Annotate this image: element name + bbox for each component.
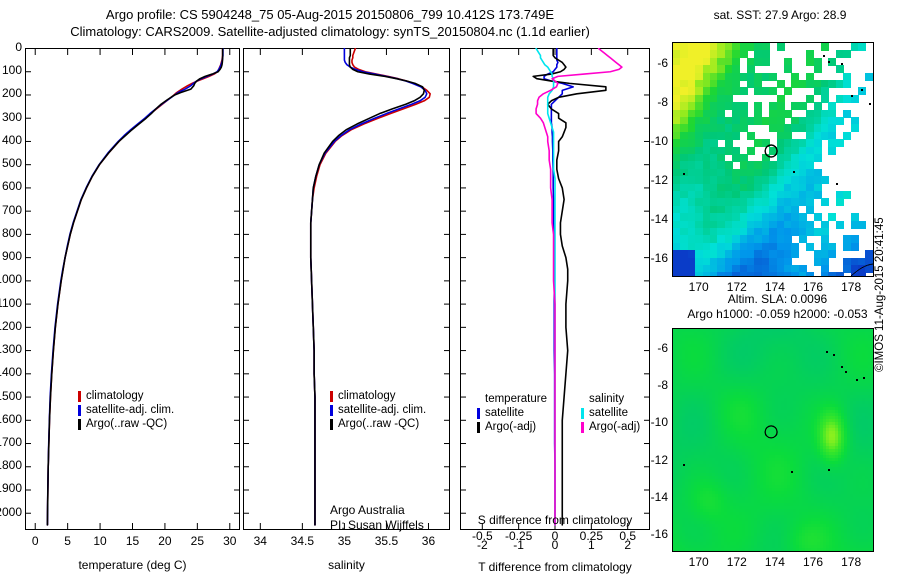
tick-label: -12 (651, 453, 668, 467)
tick-label: -16 (651, 527, 668, 541)
tick-label: -8 (657, 378, 668, 392)
copyright-notice: ©IMOS 11-Aug-2015 20:41:45 (874, 192, 886, 372)
sla-map-latitude-ticks: -6-8-10-12-14-16 (0, 0, 900, 580)
tick-label: -10 (651, 415, 668, 429)
tick-label: -14 (651, 490, 668, 504)
tick-label: -6 (657, 341, 668, 355)
